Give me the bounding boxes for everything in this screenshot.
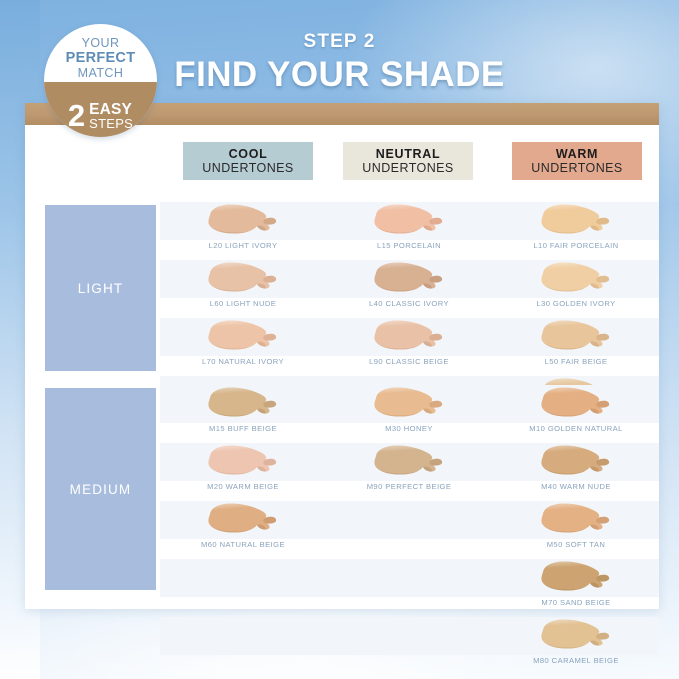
badge-bottom-text: 2 EASY STEPS [44, 102, 157, 131]
shade-name-label: M30 HONEY [326, 424, 492, 433]
shade-row: L70 NATURAL IVORY L90 CLASSIC BEIGE L50 … [160, 318, 659, 376]
foundation-swatch-icon [535, 386, 617, 422]
shade-name-label: L15 PORCELAIN [326, 241, 492, 250]
badge-line-match: MATCH [44, 66, 157, 80]
foundation-swatch-icon [368, 319, 450, 355]
shade-name-label: M60 NATURAL BEIGE [160, 540, 326, 549]
shade-cell[interactable]: L50 FAIR BEIGE [493, 318, 659, 376]
section-light: LIGHT L20 LIGHT IVORY L15 PORCELAIN L10 … [25, 202, 659, 372]
foundation-swatch-icon [368, 386, 450, 422]
shade-row: M15 BUFF BEIGE M30 HONEY M10 GOLDEN NATU… [160, 385, 659, 443]
shade-cell[interactable]: M80 CARAMEL BEIGE [493, 617, 659, 675]
foundation-swatch-icon [535, 502, 617, 538]
badge-line-your: YOUR [44, 36, 157, 50]
foundation-swatch-icon [202, 261, 284, 297]
badge-easy: EASY [89, 102, 132, 118]
perfect-match-badge: YOUR PERFECT MATCH 2 EASY STEPS [44, 24, 157, 137]
foundation-swatch-icon [368, 261, 450, 297]
shade-row: L20 LIGHT IVORY L15 PORCELAIN L10 FAIR P… [160, 202, 659, 260]
shade-grid-medium: M15 BUFF BEIGE M30 HONEY M10 GOLDEN NATU… [160, 385, 659, 675]
level-label-light: LIGHT [45, 205, 156, 371]
shade-name-label: L50 FAIR BEIGE [493, 357, 659, 366]
shade-name-label: L20 LIGHT IVORY [160, 241, 326, 250]
shade-cell[interactable]: M90 PERFECT BEIGE [326, 443, 492, 501]
shade-name-label: L40 CLASSIC IVORY [326, 299, 492, 308]
column-header-cool: COOL UNDERTONES [183, 142, 313, 180]
shade-row: L60 LIGHT NUDE L40 CLASSIC IVORY L30 GOL… [160, 260, 659, 318]
shade-name-label: M70 SAND BEIGE [493, 598, 659, 607]
shade-name-label: M40 WARM NUDE [493, 482, 659, 491]
shade-name-label: L60 LIGHT NUDE [160, 299, 326, 308]
badge-number: 2 [68, 103, 85, 129]
level-label-medium: MEDIUM [45, 388, 156, 590]
shade-cell[interactable]: L20 LIGHT IVORY [160, 202, 326, 260]
shade-cell[interactable]: L10 FAIR PORCELAIN [493, 202, 659, 260]
column-header-cool-subtitle: UNDERTONES [202, 161, 293, 175]
foundation-swatch-icon [202, 502, 284, 538]
shade-cell[interactable]: M50 SOFT TAN [493, 501, 659, 559]
foundation-swatch-icon [368, 444, 450, 480]
shade-name-label: L30 GOLDEN IVORY [493, 299, 659, 308]
shade-cell-empty [326, 501, 492, 559]
shade-name-label: M50 SOFT TAN [493, 540, 659, 549]
foundation-swatch-icon [368, 203, 450, 239]
shade-cell[interactable]: M40 WARM NUDE [493, 443, 659, 501]
shade-row: M60 NATURAL BEIGE M50 SOFT TAN [160, 501, 659, 559]
shade-cell[interactable]: M10 GOLDEN NATURAL [493, 385, 659, 443]
foundation-swatch-icon [202, 444, 284, 480]
shade-row: M20 WARM BEIGE M90 PERFECT BEIGE M40 WAR… [160, 443, 659, 501]
shade-cell[interactable]: M15 BUFF BEIGE [160, 385, 326, 443]
column-header-cool-title: COOL [229, 147, 268, 161]
undertone-header-row: COOL UNDERTONES NEUTRAL UNDERTONES WARM … [25, 142, 659, 184]
shade-name-label: M20 WARM BEIGE [160, 482, 326, 491]
shade-name-label: M15 BUFF BEIGE [160, 424, 326, 433]
shade-name-label: L10 FAIR PORCELAIN [493, 241, 659, 250]
shade-name-label: L70 NATURAL IVORY [160, 357, 326, 366]
shade-name-label: M80 CARAMEL BEIGE [493, 656, 659, 665]
shade-cell[interactable]: M60 NATURAL BEIGE [160, 501, 326, 559]
shade-row: M80 CARAMEL BEIGE [160, 617, 659, 675]
shade-cell[interactable]: L70 NATURAL IVORY [160, 318, 326, 376]
column-header-neutral-subtitle: UNDERTONES [362, 161, 453, 175]
shade-cell[interactable]: L90 CLASSIC BEIGE [326, 318, 492, 376]
shade-name-label: L90 CLASSIC BEIGE [326, 357, 492, 366]
foundation-swatch-icon [202, 203, 284, 239]
shade-cell[interactable]: M30 HONEY [326, 385, 492, 443]
shade-row: M70 SAND BEIGE [160, 559, 659, 617]
level-label-medium-text: MEDIUM [70, 482, 132, 497]
foundation-swatch-icon [202, 319, 284, 355]
foundation-swatch-icon [535, 203, 617, 239]
shade-cell[interactable]: M20 WARM BEIGE [160, 443, 326, 501]
shade-name-label: M90 PERFECT BEIGE [326, 482, 492, 491]
shade-cell-empty [326, 617, 492, 675]
foundation-swatch-icon [535, 618, 617, 654]
shade-cell[interactable]: M70 SAND BEIGE [493, 559, 659, 617]
badge-easy-steps: EASY STEPS [89, 102, 133, 131]
shade-cell[interactable]: L60 LIGHT NUDE [160, 260, 326, 318]
shade-name-label: M10 GOLDEN NATURAL [493, 424, 659, 433]
column-header-warm-title: WARM [556, 147, 598, 161]
badge-top-text: YOUR PERFECT MATCH [44, 36, 157, 80]
badge-line-perfect: PERFECT [44, 50, 157, 66]
foundation-swatch-icon [535, 319, 617, 355]
column-header-neutral-title: NEUTRAL [376, 147, 441, 161]
foundation-swatch-icon [535, 560, 617, 596]
foundation-swatch-icon [535, 261, 617, 297]
column-header-warm-subtitle: UNDERTONES [531, 161, 622, 175]
level-label-light-text: LIGHT [78, 281, 124, 296]
foundation-swatch-icon [535, 444, 617, 480]
shade-cell[interactable]: L30 GOLDEN IVORY [493, 260, 659, 318]
column-header-neutral: NEUTRAL UNDERTONES [343, 142, 473, 180]
shade-cell[interactable]: L15 PORCELAIN [326, 202, 492, 260]
badge-steps: STEPS [89, 117, 133, 130]
shade-cell-empty [160, 617, 326, 675]
shade-cell[interactable]: L40 CLASSIC IVORY [326, 260, 492, 318]
shade-finder-poster: STEP 2 FIND YOUR SHADE YOUR PERFECT MATC… [0, 0, 679, 679]
column-header-warm: WARM UNDERTONES [512, 142, 642, 180]
shade-cell-empty [160, 559, 326, 617]
section-medium: MEDIUM M15 BUFF BEIGE M30 HONEY M10 GOLD… [25, 385, 659, 591]
foundation-swatch-icon [202, 386, 284, 422]
shade-cell-empty [326, 559, 492, 617]
